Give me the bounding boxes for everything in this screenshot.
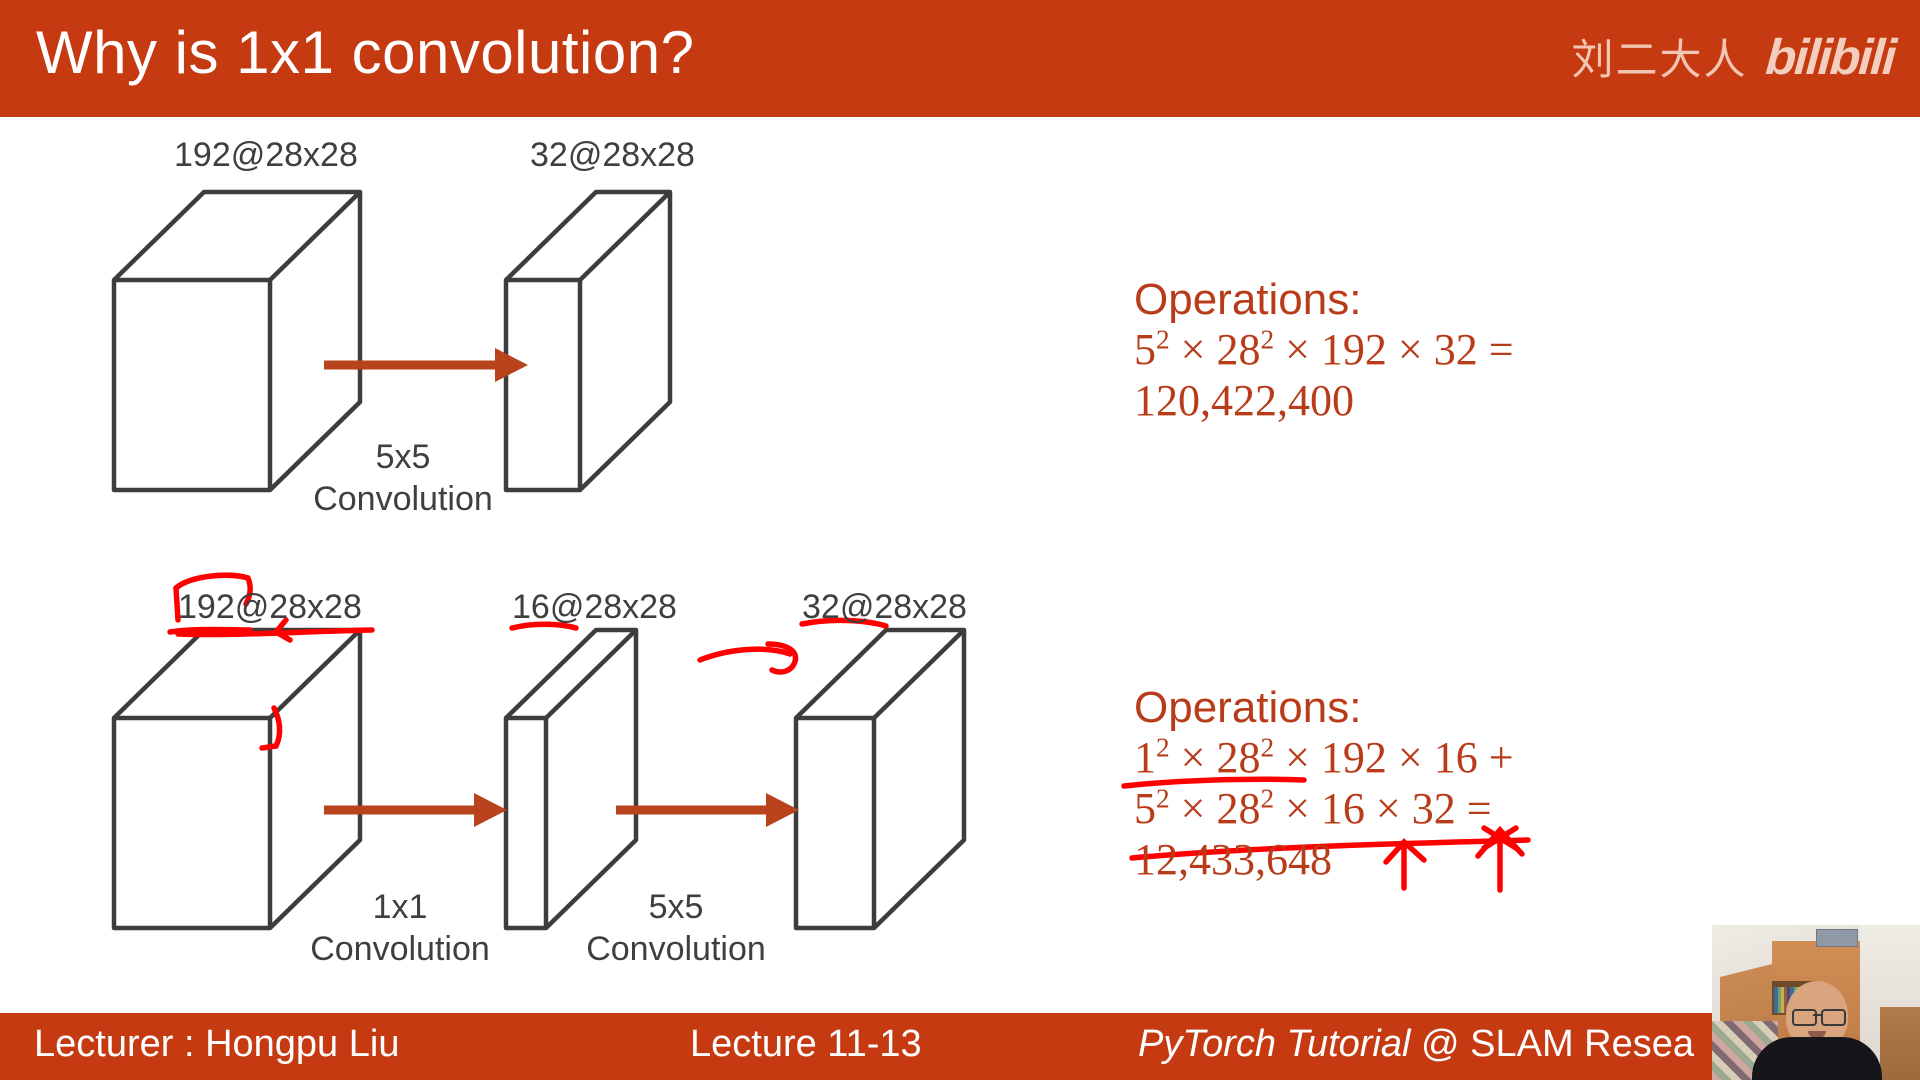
row1-ops-title: Operations: xyxy=(1134,275,1514,324)
row1-output-cuboid xyxy=(506,192,670,490)
webcam-person-body xyxy=(1752,1037,1882,1080)
row2-conv1-kernel-label: 1x1 xyxy=(290,888,510,926)
course-title-italic: PyTorch Tutorial xyxy=(1138,1023,1410,1065)
glasses-icon xyxy=(1792,1009,1844,1022)
page-title: Why is 1x1 convolution? xyxy=(36,18,695,87)
f2-exp-2b: 2 xyxy=(1260,733,1274,763)
f2-tail: × 192 × 16 + xyxy=(1274,733,1513,782)
f1-base-5: 5 xyxy=(1134,325,1156,374)
glasses-bridge xyxy=(1813,1014,1821,1016)
f1-tail: × 192 × 32 = xyxy=(1274,325,1513,374)
f2-exp-2a: 2 xyxy=(1156,733,1170,763)
f1-exp-2b: 2 xyxy=(1260,325,1274,355)
annotation-curved-arrow-body xyxy=(700,649,790,660)
f3-exp-2a: 2 xyxy=(1156,784,1170,814)
annotation-curved-arrow-head xyxy=(768,644,796,672)
row2-mid-label: 16@28x28 xyxy=(512,588,677,627)
f3-mid-28: × 28 xyxy=(1170,784,1261,833)
annotation-bracket-over-192 xyxy=(176,575,248,588)
top-banner: Why is 1x1 convolution? 刘二大人 bilibili xyxy=(0,0,1920,117)
row2-conv1-arrow xyxy=(324,793,507,827)
row2-ops-formula-line2: 52 × 282 × 16 × 32 = xyxy=(1134,783,1514,834)
channel-name-label: 刘二大人 xyxy=(1572,26,1748,87)
row2-ops-result: 12,433,648 xyxy=(1134,834,1514,885)
row1-conv-arrow xyxy=(324,348,528,382)
annotation-hook-on-cube xyxy=(262,708,280,748)
footer-banner: Lecturer : Hongpu Liu Lecture 11-13 PyTo… xyxy=(0,1013,1920,1080)
row2-conv2-arrow xyxy=(616,793,799,827)
annotation-underline-192 xyxy=(170,630,250,633)
row1-conv-word-label: Convolution xyxy=(288,480,518,518)
row2-ops-formula-line1: 12 × 282 × 192 × 16 + xyxy=(1134,732,1514,783)
row2-operations-block: Operations: 12 × 282 × 192 × 16 + 52 × 2… xyxy=(1134,683,1514,885)
course-label: PyTorch Tutorial @ SLAM Resea xyxy=(1138,1023,1694,1066)
row2-conv1-word-label: Convolution xyxy=(290,930,510,968)
row2-output-label: 32@28x28 xyxy=(802,588,967,627)
glasses-left-lens xyxy=(1792,1009,1817,1026)
row2-ops-title: Operations: xyxy=(1134,683,1514,732)
webcam-storage-box xyxy=(1816,929,1858,947)
row2-mid-cuboid xyxy=(506,630,636,928)
lecturer-label: Lecturer : Hongpu Liu xyxy=(34,1023,399,1066)
f1-exp-2a: 2 xyxy=(1156,325,1170,355)
lecture-number-label: Lecture 11-13 xyxy=(690,1023,922,1066)
row2-output-cuboid xyxy=(796,630,964,928)
glasses-right-lens xyxy=(1821,1009,1846,1026)
f3-base-5: 5 xyxy=(1134,784,1156,833)
f2-mid-28: × 28 xyxy=(1170,733,1261,782)
brand-area: 刘二大人 bilibili xyxy=(1572,26,1894,87)
row2-input-label: 192@28x28 xyxy=(178,588,362,627)
row1-ops-result: 120,422,400 xyxy=(1134,375,1514,426)
row1-operations-block: Operations: 52 × 282 × 192 × 32 = 120,42… xyxy=(1134,275,1514,426)
f3-tail: × 16 × 32 = xyxy=(1274,784,1491,833)
bilibili-logo: bilibili xyxy=(1764,28,1896,86)
webcam-overlay[interactable] xyxy=(1712,925,1920,1080)
course-affiliation: @ SLAM Resea xyxy=(1410,1023,1694,1065)
annotation-underline-28x28 xyxy=(178,630,372,635)
webcam-side-furniture xyxy=(1880,1007,1920,1080)
f3-exp-2b: 2 xyxy=(1260,784,1274,814)
row1-ops-formula-line1: 52 × 282 × 192 × 32 = xyxy=(1134,324,1514,375)
row2-conv2-kernel-label: 5x5 xyxy=(566,888,786,926)
row2-input-cuboid xyxy=(114,630,360,928)
f2-base-1: 1 xyxy=(1134,733,1156,782)
row2-conv2-word-label: Convolution xyxy=(566,930,786,968)
row1-output-label: 32@28x28 xyxy=(530,136,695,175)
f1-mid-28: × 28 xyxy=(1170,325,1261,374)
row1-input-label: 192@28x28 xyxy=(174,136,358,175)
row1-conv-kernel-label: 5x5 xyxy=(288,438,518,476)
